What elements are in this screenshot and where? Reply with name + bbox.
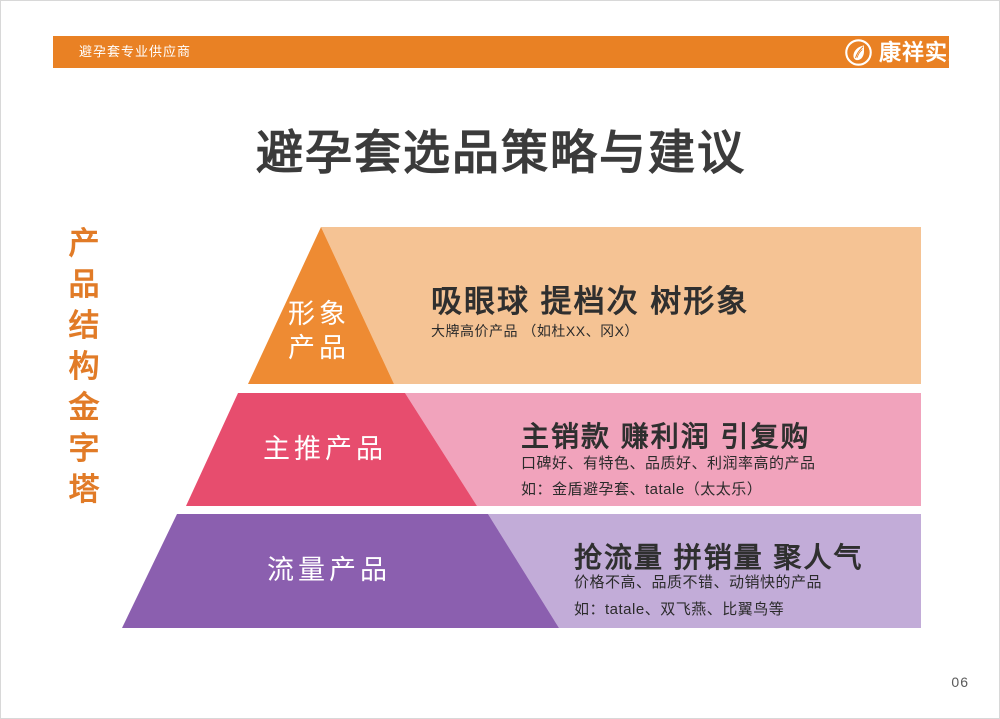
tier-1-label: 形象 产品 (263, 297, 375, 365)
swirl-leaf-icon (845, 39, 872, 66)
page-number: 06 (951, 674, 969, 690)
page-title: 避孕套选品策略与建议 (1, 114, 1000, 183)
tier-3-label: 流量产品 (241, 553, 417, 587)
brand-logo: 康祥实业 (845, 37, 971, 67)
tier-1-headline: 吸眼球 提档次 树形象 (431, 276, 749, 321)
tier-2-headline: 主销款 赚利润 引复购 (521, 415, 811, 455)
tier-3-headline: 抢流量 拼销量 聚人气 (574, 536, 864, 576)
side-caption: 产品结构金字塔 (61, 223, 107, 510)
tier-3-subline-2: 如：tatale、双飞燕、比翼鸟等 (574, 598, 784, 619)
tier-1-subline-1: 大牌高价产品 （如杜XX、冈X） (431, 321, 639, 341)
tier-3-subline-1: 价格不高、品质不错、动销快的产品 (574, 571, 822, 592)
brand-name: 康祥实业 (879, 39, 971, 66)
tier-2-label: 主推产品 (237, 432, 413, 466)
pyramid-diagram (1, 1, 1000, 719)
tier-2-subline-2: 如：金盾避孕套、tatale（太太乐） (521, 478, 762, 499)
slide-canvas: 避孕套专业供应商 康祥实业 避孕套选品策略与建议 产品结构金字塔 形象 产品 吸… (0, 0, 1000, 719)
header-tagline: 避孕套专业供应商 (79, 43, 191, 61)
tier-2-subline-1: 口碑好、有特色、品质好、利润率高的产品 (521, 452, 816, 473)
